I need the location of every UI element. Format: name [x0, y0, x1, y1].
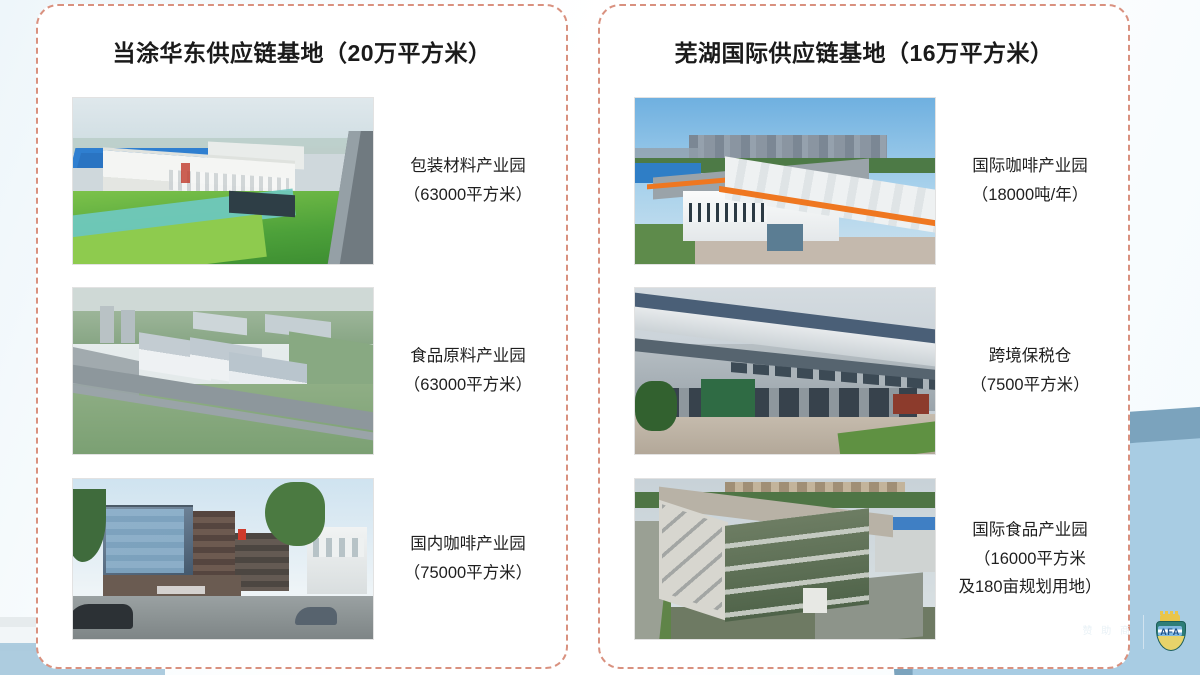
panel-dangtu-title: 当涂华东供应链基地（20万平方米） — [38, 34, 566, 68]
white-warehouse-aerial-photo — [634, 97, 936, 265]
panel-wuhu-title: 芜湖国际供应链基地（16万平方米） — [600, 34, 1128, 68]
site-rendering-aerial — [72, 287, 374, 455]
afa-crest-icon: AFA — [1154, 613, 1186, 651]
sponsor-divider — [1143, 615, 1144, 649]
caption: 国际咖啡产业园 （18000吨/年） — [936, 152, 1118, 210]
caption-line-2: （16000平方米 — [942, 545, 1118, 574]
caption: 包装材料产业园 （63000平方米） — [374, 152, 556, 210]
caption-line-1: 跨境保税仓 — [942, 342, 1118, 371]
list-item: 国际咖啡产业园 （18000吨/年） — [600, 86, 1128, 276]
list-item: 跨境保税仓 （7500平方米） — [600, 276, 1128, 466]
sponsor-label: 赞 助 商 — [1082, 624, 1133, 640]
caption-line-2: （63000平方米） — [380, 181, 556, 210]
green-facade-building-photo — [634, 478, 936, 640]
caption-line-1: 食品原料产业园 — [380, 342, 556, 371]
list-item: 包装材料产业园 （63000平方米） — [38, 86, 566, 276]
aerial-industrial-park-photo — [72, 97, 374, 265]
caption: 国际食品产业园 （16000平方米 及180亩规划用地） — [936, 516, 1118, 603]
list-item: 国际食品产业园 （16000平方米 及180亩规划用地） — [600, 466, 1128, 652]
sponsor-lockup: 赞 助 商 AFA — [1082, 613, 1186, 651]
crest-afa-text: AFA — [1154, 627, 1186, 637]
caption: 跨境保税仓 （7500平方米） — [936, 342, 1118, 400]
panel-wuhu-rows: 国际咖啡产业园 （18000吨/年） — [600, 86, 1128, 652]
caption-line-2: （75000平方米） — [380, 559, 556, 588]
panel-dangtu: 当涂华东供应链基地（20万平方米） 包装材料产业园 — [36, 4, 568, 669]
list-item: 食品原料产业园 （63000平方米） — [38, 276, 566, 466]
caption-line-2: （63000平方米） — [380, 371, 556, 400]
caption-line-1: 国际食品产业园 — [942, 516, 1118, 545]
panel-wuhu: 芜湖国际供应链基地（16万平方米） 国际咖啡产业园 （18000吨/年） — [598, 4, 1130, 669]
caption-line-3: 及180亩规划用地） — [942, 573, 1118, 602]
list-item: 国内咖啡产业园 （75000平方米） — [38, 466, 566, 652]
office-building-street-rendering — [72, 478, 374, 640]
panel-dangtu-rows: 包装材料产业园 （63000平方米） — [38, 86, 566, 652]
caption-line-1: 国内咖啡产业园 — [380, 530, 556, 559]
loading-dock-warehouse-photo — [634, 287, 936, 455]
caption-line-2: （7500平方米） — [942, 371, 1118, 400]
caption: 食品原料产业园 （63000平方米） — [374, 342, 556, 400]
caption-line-1: 包装材料产业园 — [380, 152, 556, 181]
slide-root: 当涂华东供应链基地（20万平方米） 包装材料产业园 — [0, 0, 1200, 675]
caption-line-1: 国际咖啡产业园 — [942, 152, 1118, 181]
caption-line-2: （18000吨/年） — [942, 181, 1118, 210]
caption: 国内咖啡产业园 （75000平方米） — [374, 530, 556, 588]
